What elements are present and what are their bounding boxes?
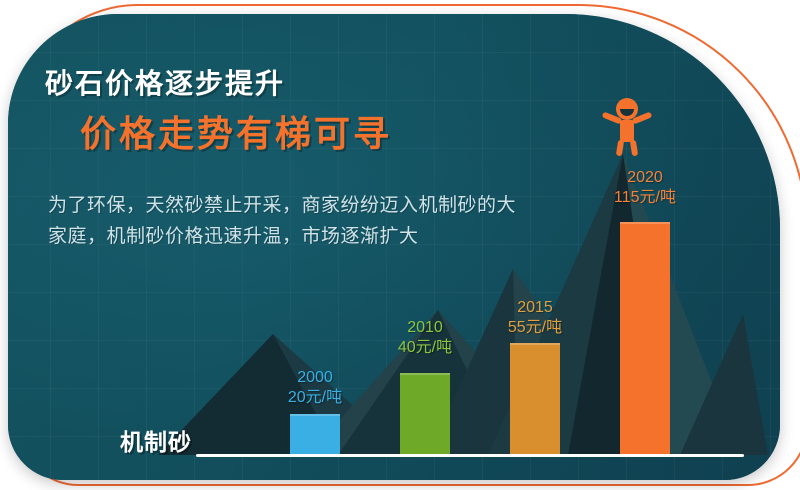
chart-baseline-axis xyxy=(196,454,744,457)
celebrating-person-icon xyxy=(598,96,656,158)
poster-canvas: 砂石价格逐步提升 价格走势有梯可寻 为了环保，天然砂禁止开采，商家纷纷迈入机制砂… xyxy=(0,0,800,490)
bar-2015[interactable] xyxy=(510,343,560,454)
bar-cap xyxy=(400,373,450,375)
bar-2020[interactable] xyxy=(620,222,670,454)
data-label-2000: 2000 20元/吨 xyxy=(255,368,375,408)
data-label-value: 40元/吨 xyxy=(365,338,485,358)
data-label-value: 20元/吨 xyxy=(255,388,375,408)
bar-cap xyxy=(510,343,560,345)
data-label-value: 55元/吨 xyxy=(475,318,595,338)
bar-2000[interactable] xyxy=(290,414,340,454)
data-label-2010: 2010 40元/吨 xyxy=(365,318,485,358)
data-label-year: 2010 xyxy=(365,318,485,338)
bar-cap xyxy=(620,222,670,224)
bar-2010[interactable] xyxy=(400,373,450,454)
data-label-2020: 2020 115元/吨 xyxy=(585,168,705,208)
poster-heading-main: 砂石价格逐步提升 xyxy=(45,62,285,102)
data-label-value: 115元/吨 xyxy=(585,188,705,208)
chart-axis-label: 机制砂 xyxy=(120,423,192,457)
data-label-year: 2020 xyxy=(585,168,705,188)
poster-body-text: 为了环保，天然砂禁止开采，商家纷纷迈入机制砂的大家庭，机制砂价格迅速升温，市场逐… xyxy=(48,190,518,252)
data-label-year: 2000 xyxy=(255,368,375,388)
poster-heading-sub: 价格走势有梯可寻 xyxy=(80,105,392,157)
bar-cap xyxy=(290,414,340,416)
data-label-year: 2015 xyxy=(475,298,595,318)
data-label-2015: 2015 55元/吨 xyxy=(475,298,595,338)
